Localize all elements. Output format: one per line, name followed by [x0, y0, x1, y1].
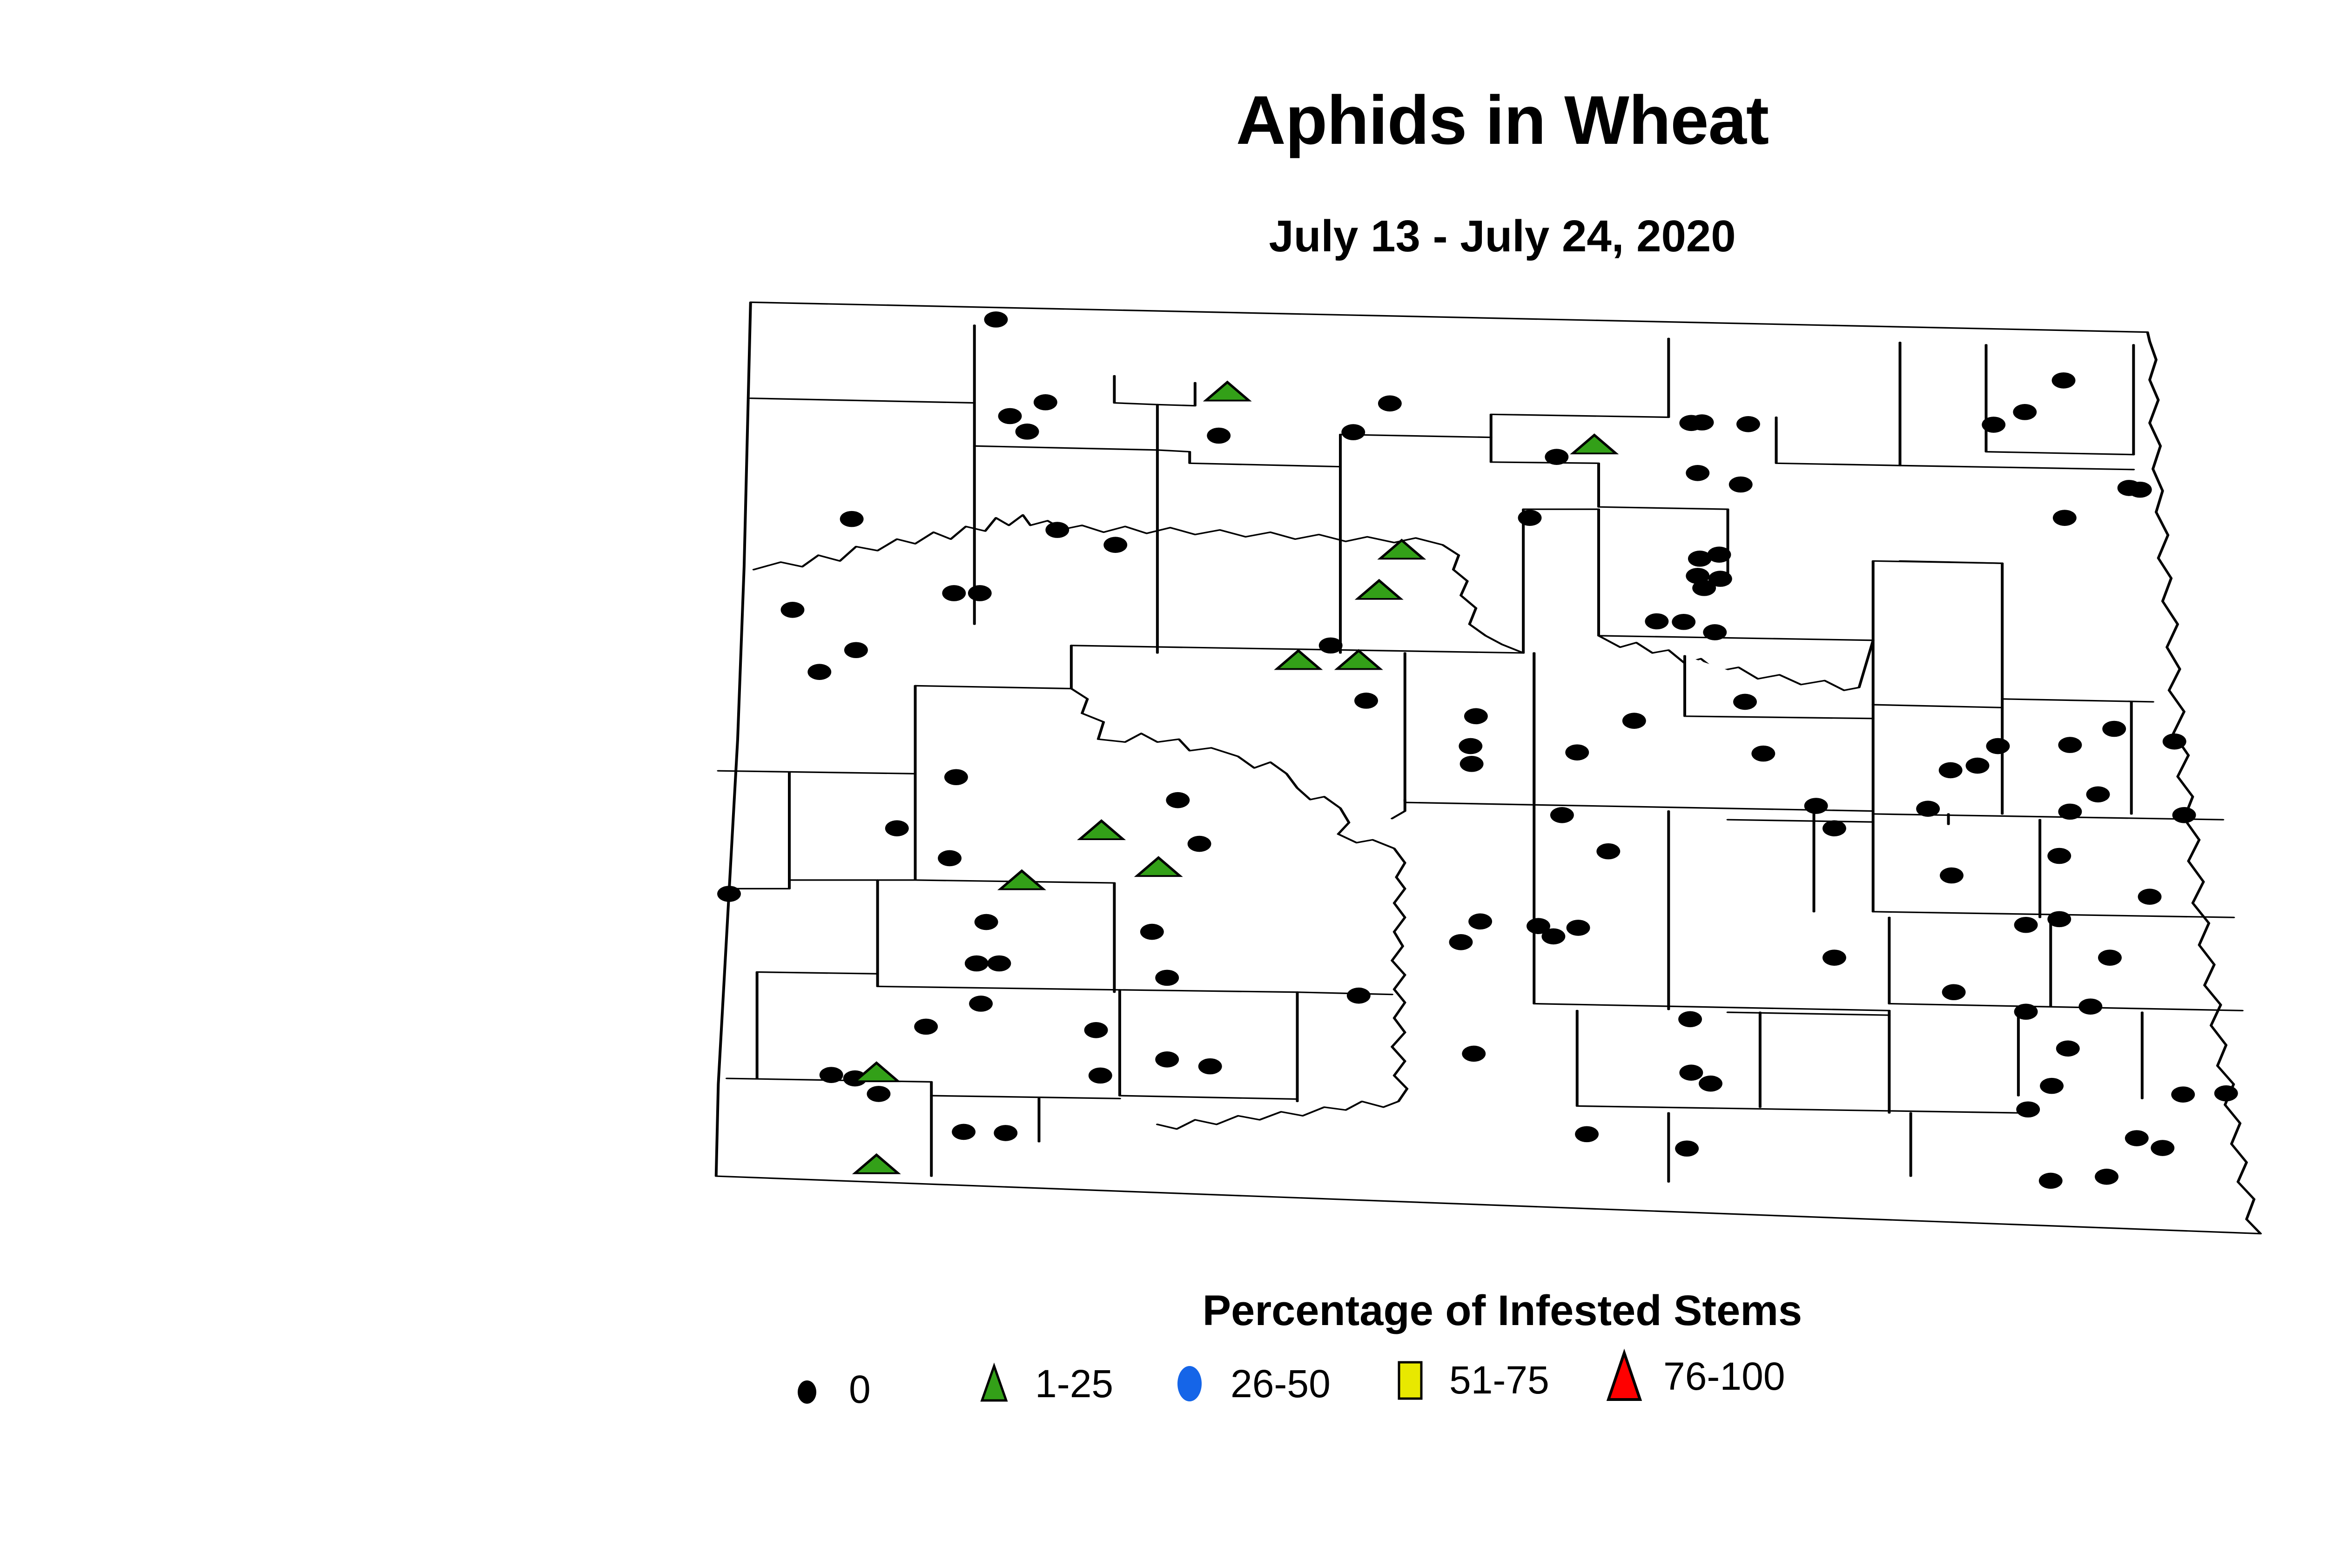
- site-marker-dot: [1686, 465, 1709, 481]
- site-marker-dot: [717, 886, 741, 902]
- site-marker-dot: [1675, 1140, 1699, 1157]
- site-marker-dot: [2172, 807, 2196, 823]
- site-marker-dot: [820, 1067, 843, 1083]
- site-marker-dot: [2125, 1130, 2149, 1146]
- date-range-subtitle: July 13 - July 24, 2020: [0, 214, 2327, 259]
- site-marker-dot: [1378, 396, 1402, 412]
- site-marker-dot: [1347, 988, 1371, 1004]
- site-marker-dot: [1966, 758, 1990, 774]
- site-marker-dot: [781, 602, 805, 618]
- site-marker-dot: [1034, 394, 1057, 411]
- legend-item-0[interactable]: 0: [791, 1354, 871, 1424]
- site-marker-dot: [1940, 868, 1964, 884]
- site-marker-dot: [1166, 792, 1190, 808]
- site-marker-dot: [2039, 1173, 2063, 1189]
- site-marker-dot: [1319, 638, 1343, 654]
- site-marker-dot: [1155, 1051, 1179, 1068]
- site-marker-dot: [998, 408, 1022, 424]
- site-marker-dot: [1729, 477, 1753, 493]
- legend-item-1-25[interactable]: 1-25: [977, 1349, 1113, 1419]
- site-marker-dot: [938, 850, 962, 867]
- legend: Percentage of Infested Stems 0 1-25 26-5…: [0, 1289, 2327, 1332]
- site-marker-dot: [2171, 1086, 2195, 1103]
- site-marker-dot: [1703, 624, 1727, 640]
- site-marker-dot: [2047, 911, 2071, 928]
- site-marker-dot: [988, 956, 1011, 972]
- site-marker-dot: [2016, 1101, 2040, 1117]
- site-marker-dot: [1155, 970, 1179, 986]
- site-marker-dot: [2095, 1169, 2119, 1185]
- site-marker-dot: [1567, 920, 1590, 936]
- site-marker-dot: [2138, 888, 2162, 905]
- site-marker-dot: [2058, 804, 2082, 820]
- circle-marker-icon: [1173, 1356, 1224, 1412]
- site-marker-dot: [2102, 721, 2126, 737]
- triangle-marker-icon: [977, 1356, 1029, 1412]
- site-marker-dot: [1699, 1076, 1722, 1092]
- triangle-marker-icon: [1606, 1348, 1657, 1404]
- site-marker-dot: [1672, 614, 1695, 630]
- site-marker-dot: [969, 996, 993, 1012]
- site-marker-dot: [2040, 1078, 2064, 1094]
- site-marker-dot: [1622, 713, 1646, 729]
- site-marker-dot: [840, 511, 864, 527]
- site-marker-dot: [1678, 1011, 1702, 1028]
- legend-item-51-75[interactable]: 51-75: [1392, 1345, 1549, 1415]
- site-marker-dot: [1708, 546, 1731, 563]
- legend-title: Percentage of Infested Stems: [0, 1289, 2327, 1332]
- site-marker-dot: [2052, 372, 2076, 389]
- site-marker-dot: [1103, 537, 1127, 553]
- site-marker-dot: [1016, 424, 1039, 440]
- site-marker-dot: [1596, 843, 1620, 860]
- site-marker-dot: [1565, 744, 1589, 760]
- site-marker-dot: [867, 1086, 891, 1102]
- site-marker-dot: [844, 642, 868, 658]
- site-marker-dot: [1679, 415, 1703, 431]
- site-marker-dot: [975, 914, 998, 930]
- legend-label-1-25: 1-25: [1029, 1364, 1113, 1403]
- legend-label-26-50: 26-50: [1224, 1364, 1331, 1403]
- county-boundaries: [716, 302, 2260, 1233]
- site-marker-dot: [1468, 914, 1492, 930]
- site-marker-dot: [1804, 798, 1828, 814]
- site-marker-dot: [1207, 428, 1231, 444]
- site-marker-dot: [2013, 404, 2037, 420]
- site-marker-dot: [1464, 708, 1488, 725]
- site-marker-dot: [1939, 762, 1963, 779]
- site-marker-dot: [1986, 738, 2010, 754]
- site-marker-dot: [1188, 836, 1211, 852]
- site-marker-dot: [2058, 737, 2082, 753]
- site-marker-dot: [2163, 734, 2186, 750]
- page-title: Aphids in Wheat: [0, 86, 2327, 155]
- legend-item-76-100[interactable]: 76-100: [1606, 1341, 1785, 1411]
- site-marker-dot: [1449, 934, 1473, 950]
- site-marker-dot: [2053, 510, 2077, 526]
- site-marker-dot: [1198, 1058, 1222, 1075]
- site-marker-dot: [944, 769, 968, 785]
- site-marker-dot: [1736, 416, 1760, 432]
- site-marker-dot: [1518, 510, 1542, 526]
- square-marker-icon: [1392, 1352, 1443, 1408]
- map-svg: [652, 279, 2327, 1257]
- north-dakota-county-map: [652, 279, 2327, 1257]
- site-marker-dot: [2086, 787, 2110, 803]
- site-marker-dot: [942, 585, 966, 601]
- site-marker-dot: [1341, 424, 1365, 440]
- site-marker-dot: [1751, 746, 1775, 762]
- circle-marker-icon: [791, 1361, 842, 1417]
- site-marker-dot: [1545, 449, 1568, 465]
- legend-items: 0 1-25 26-50 51-75: [791, 1349, 2280, 1419]
- site-marker-dot: [1462, 1046, 1486, 1062]
- legend-label-76-100: 76-100: [1657, 1357, 1785, 1396]
- site-marker-dot: [1679, 1064, 1703, 1081]
- site-marker-dot: [965, 956, 989, 972]
- site-marker-dot: [1084, 1022, 1108, 1038]
- site-marker-dot: [1460, 756, 1484, 772]
- site-marker-dot: [1942, 984, 1966, 1000]
- site-marker-dot: [1692, 580, 1716, 596]
- site-marker-dot: [984, 311, 1008, 328]
- site-marker-dot: [807, 664, 831, 680]
- site-marker-dot: [1733, 694, 1757, 710]
- site-marker-dot: [1575, 1126, 1599, 1143]
- site-marker-dot: [952, 1124, 975, 1140]
- site-marker-dot: [2098, 949, 2122, 966]
- site-marker-dot: [968, 585, 992, 601]
- site-marker-dot: [2128, 482, 2152, 498]
- site-marker-dot: [1823, 820, 1846, 836]
- site-marker-dot: [1541, 929, 1565, 945]
- site-marker-dot: [2014, 1003, 2038, 1020]
- site-marker-dot: [1823, 949, 1846, 966]
- site-marker-dot: [1645, 613, 1668, 630]
- site-marker-dot: [2047, 848, 2071, 864]
- tier-line: [1340, 435, 1491, 467]
- site-marker-dot: [914, 1019, 938, 1035]
- legend-label-0: 0: [842, 1370, 871, 1409]
- site-marker-dot: [2056, 1041, 2080, 1057]
- legend-item-26-50[interactable]: 26-50: [1173, 1349, 1331, 1419]
- site-marker-dot: [2151, 1140, 2174, 1156]
- legend-label-51-75: 51-75: [1443, 1360, 1549, 1400]
- site-marker-dot: [885, 820, 909, 836]
- site-marker-dot: [1089, 1068, 1112, 1084]
- site-marker-dot: [994, 1125, 1017, 1141]
- site-marker-dot: [1045, 522, 1069, 538]
- site-marker-dot: [1916, 801, 1940, 817]
- aphids-in-wheat-map-figure: Aphids in Wheat July 13 - July 24, 2020: [0, 0, 2327, 1568]
- site-marker-dot: [2078, 998, 2102, 1015]
- site-marker-dot: [2214, 1085, 2238, 1102]
- site-marker-dot: [2014, 917, 2038, 933]
- site-marker-dot: [1550, 807, 1574, 823]
- site-marker-dot: [1354, 693, 1378, 709]
- site-marker-dot: [1140, 924, 1164, 940]
- site-marker-dot: [1459, 738, 1482, 754]
- site-marker-dot: [1982, 417, 2005, 433]
